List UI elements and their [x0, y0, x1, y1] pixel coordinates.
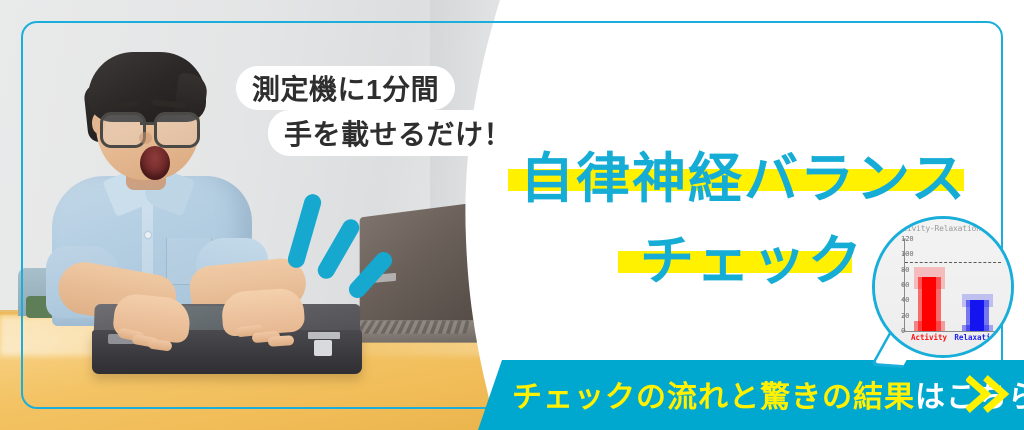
headline-line-1: 自律神経バランス	[520, 134, 967, 213]
promo-banner: 測定機に1分間 手を載せるだけ！ 自律神経バランス チェック チェックの流れと驚…	[0, 0, 1024, 430]
chart-y-tick-mark	[902, 285, 906, 286]
photo-device-label	[308, 332, 340, 339]
hero-photo	[0, 0, 520, 430]
chart-y-tick-mark	[902, 331, 906, 332]
photo-device-indicator	[314, 340, 332, 356]
photo-person-open-mouth	[140, 146, 170, 180]
chart-x-axis	[904, 331, 1002, 332]
callout-line-2: 手を載せるだけ！	[268, 110, 528, 156]
chart-x-tick: Activity	[911, 333, 947, 342]
chart-bar	[914, 239, 945, 331]
chart-y-tick-mark	[902, 269, 906, 270]
chart-title: Activity-Relaxation	[893, 224, 981, 233]
headline-line-2: チェック	[640, 216, 864, 295]
chart-bar-core	[922, 277, 936, 331]
cta-label[interactable]: チェックの流れと驚きの結果 はこちら	[512, 372, 1024, 416]
cta-emphasis-text: チェックの流れと驚きの結果	[512, 372, 915, 416]
chart-speech-bubble: Activity-Relaxation 020406080100120 Acti…	[872, 216, 1014, 358]
chart-bar-core	[970, 300, 984, 331]
chart-y-tick-mark	[902, 300, 906, 301]
chart-y-tick-mark	[902, 239, 906, 240]
chart-y-tick-mark	[902, 315, 906, 316]
chart-bar	[962, 239, 993, 331]
chart-x-tick: Relaxation	[954, 333, 999, 342]
callout-line-1: 測定機に1分間	[236, 66, 455, 110]
photo-shirt-button	[145, 232, 151, 238]
photo-person-nose	[139, 132, 152, 144]
chart-y-tick-mark	[902, 254, 906, 255]
double-chevron-right-icon[interactable]	[966, 374, 1010, 414]
activity-relaxation-chart: Activity-Relaxation 020406080100120 Acti…	[875, 219, 1014, 358]
